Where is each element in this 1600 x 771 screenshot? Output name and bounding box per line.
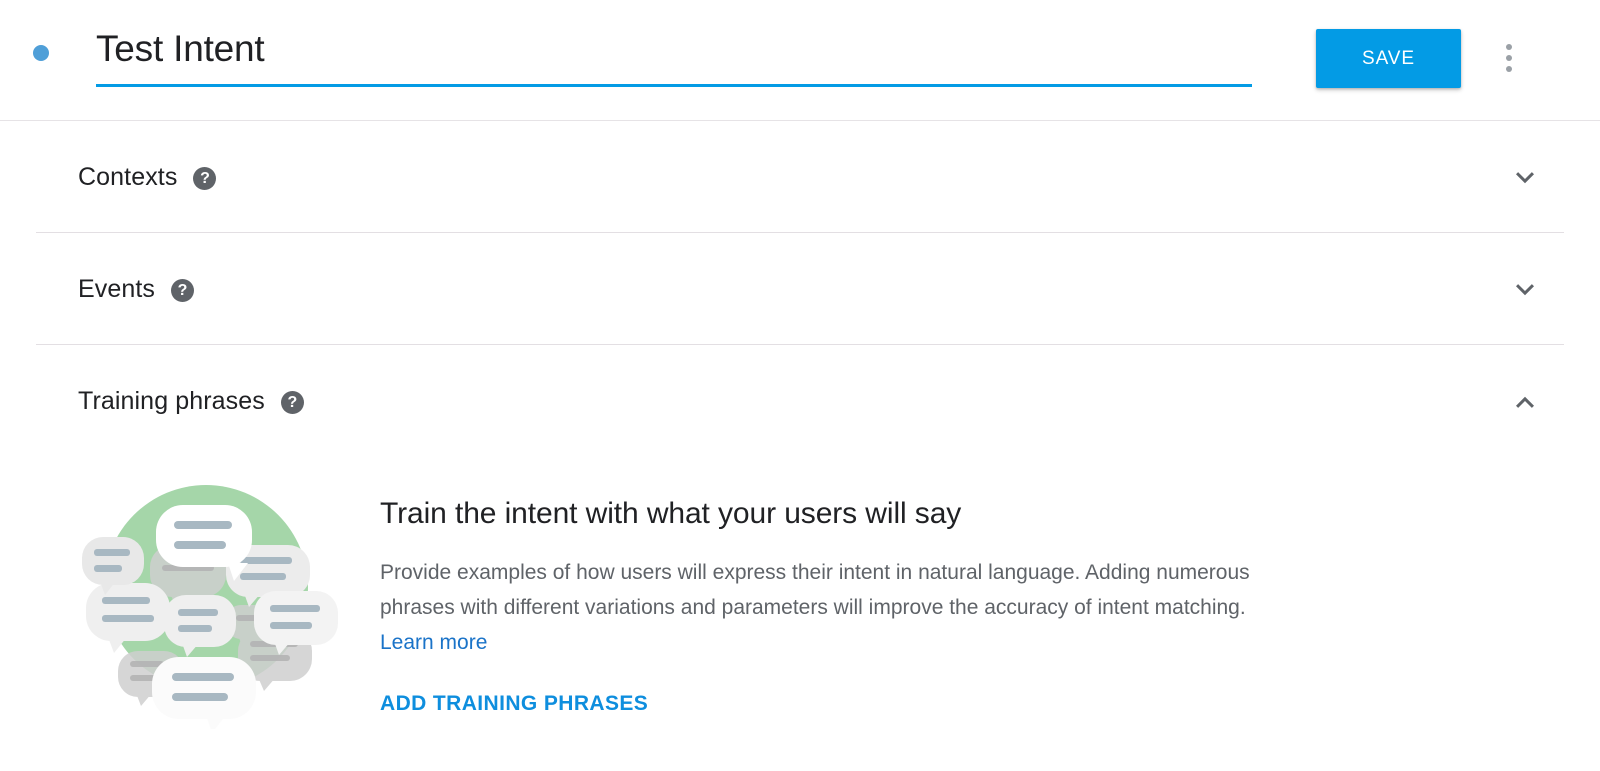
speech-bubbles-illustration	[78, 469, 338, 729]
section-events-label: Events	[78, 275, 155, 304]
section-contexts[interactable]: Contexts ?	[36, 121, 1564, 233]
empty-state-heading: Train the intent with what your users wi…	[380, 495, 1564, 533]
learn-more-link[interactable]: Learn more	[380, 631, 487, 654]
section-events[interactable]: Events ?	[36, 233, 1564, 345]
chevron-down-icon[interactable]	[1510, 275, 1540, 305]
dot-1	[1506, 44, 1512, 50]
section-training-phrases-label: Training phrases	[78, 387, 265, 416]
training-phrases-text-block: Train the intent with what your users wi…	[380, 457, 1564, 716]
help-icon[interactable]: ?	[171, 279, 194, 302]
dot-3	[1506, 66, 1512, 72]
intent-header: Test Intent SAVE	[0, 0, 1600, 121]
description-text: Provide examples of how users will expre…	[380, 561, 1250, 619]
section-events-header[interactable]: Events ?	[78, 233, 194, 345]
title-underline	[96, 84, 1252, 87]
chevron-down-icon[interactable]	[1510, 163, 1540, 193]
help-icon[interactable]: ?	[281, 391, 304, 414]
section-contexts-header[interactable]: Contexts ?	[78, 121, 216, 233]
empty-state-description: Provide examples of how users will expre…	[380, 555, 1260, 660]
add-training-phrases-button[interactable]: ADD TRAINING PHRASES	[380, 692, 648, 716]
section-training-phrases-header[interactable]: Training phrases ?	[78, 345, 304, 457]
chevron-up-icon[interactable]	[1510, 387, 1540, 417]
more-options-icon[interactable]	[1495, 36, 1523, 80]
page-title[interactable]: Test Intent	[96, 22, 1252, 76]
intent-status-dot	[33, 45, 49, 61]
dot-2	[1506, 55, 1512, 61]
intent-title-field[interactable]: Test Intent	[96, 22, 1252, 87]
training-phrases-empty-state: Train the intent with what your users wi…	[36, 457, 1564, 729]
section-training-phrases[interactable]: Training phrases ?	[36, 345, 1564, 457]
help-icon[interactable]: ?	[193, 167, 216, 190]
save-button[interactable]: SAVE	[1316, 29, 1461, 88]
section-contexts-label: Contexts	[78, 163, 177, 192]
